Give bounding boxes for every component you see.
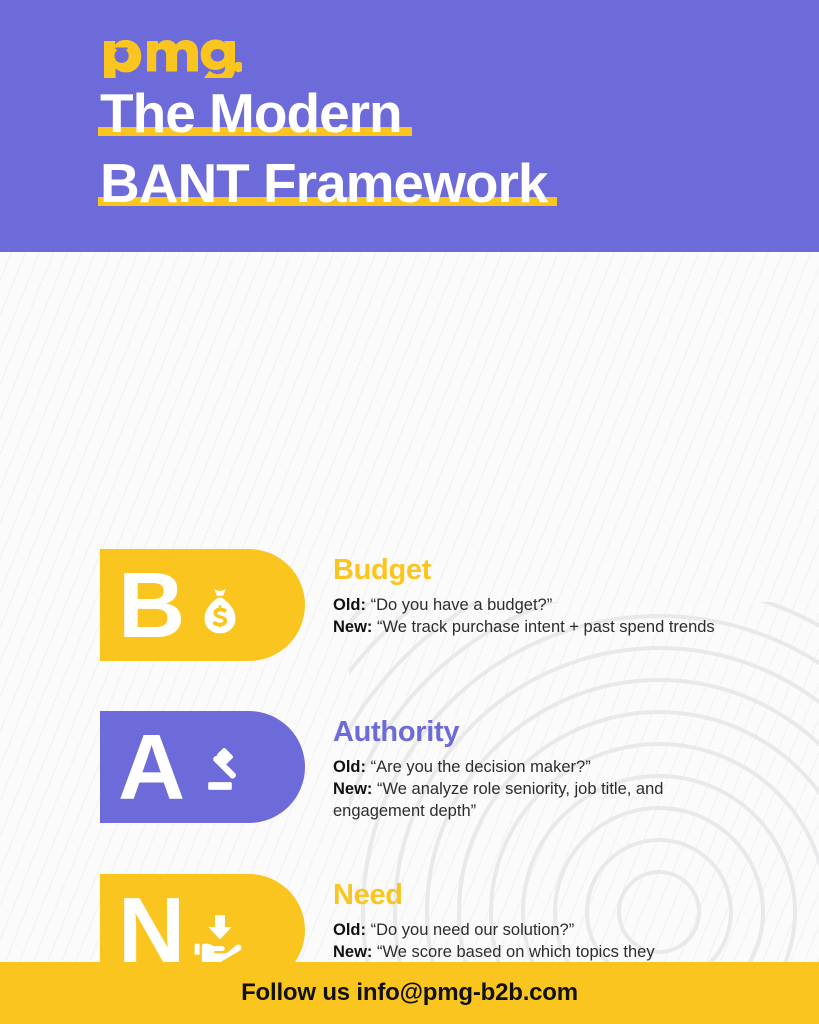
header-banner: The Modern BANT Framework — [0, 0, 819, 252]
bant-row-authority: A Authority Old: “Are you the decision — [0, 711, 819, 823]
badge-letter-b: B — [118, 559, 183, 652]
new-label-authority: New: — [333, 780, 372, 798]
footer-bar: Follow us info@pmg-b2b.com — [0, 962, 819, 1024]
new-label-budget: New: — [333, 618, 372, 636]
row-body-budget: Old: “Do you have a budget?” New: “We tr… — [333, 594, 725, 638]
pmg-logo[interactable] — [100, 28, 242, 78]
page-title: The Modern BANT Framework — [98, 82, 798, 222]
old-label-budget: Old: — [333, 596, 366, 614]
money-bag-icon — [189, 581, 251, 643]
hand-receiving-arrow-icon — [189, 906, 251, 968]
row-title-need: Need — [333, 878, 819, 912]
old-text-need: “Do you need our solution?” — [371, 921, 575, 939]
old-text-authority: “Are you the decision maker?” — [371, 758, 591, 776]
title-line-2: BANT Framework — [98, 152, 551, 214]
new-text-authority: “We analyze role seniority, job title, a… — [333, 780, 663, 820]
old-text-budget: “Do you have a budget?” — [371, 596, 553, 614]
badge-letter-a: A — [118, 721, 183, 814]
footer-contact-text[interactable]: Follow us info@pmg-b2b.com — [241, 979, 578, 1007]
content-budget: Budget Old: “Do you have a budget?” New:… — [333, 549, 819, 638]
title-row-1: The Modern — [98, 82, 798, 144]
bant-row-budget: B Budget Old: — [0, 549, 819, 661]
funnel-icon — [100, 28, 242, 78]
infographic-page: The Modern BANT Framework B — [0, 0, 819, 1024]
content-authority: Authority Old: “Are you the decision mak… — [333, 711, 819, 822]
old-label-need: Old: — [333, 921, 366, 939]
row-title-authority: Authority — [333, 715, 819, 749]
title-line-1-text: The Modern — [100, 82, 402, 144]
new-text-budget: “We track purchase intent + past spend t… — [377, 618, 715, 636]
row-body-authority: Old: “Are you the decision maker?” New: … — [333, 756, 725, 822]
badge-authority: A — [100, 711, 305, 823]
new-label-need: New: — [333, 943, 372, 961]
row-title-budget: Budget — [333, 553, 819, 587]
title-row-2: BANT Framework — [98, 152, 798, 214]
title-line-1: The Modern — [98, 82, 406, 144]
badge-budget: B — [100, 549, 305, 661]
title-line-2-text: BANT Framework — [100, 152, 547, 214]
gavel-icon — [189, 743, 251, 805]
old-label-authority: Old: — [333, 758, 366, 776]
